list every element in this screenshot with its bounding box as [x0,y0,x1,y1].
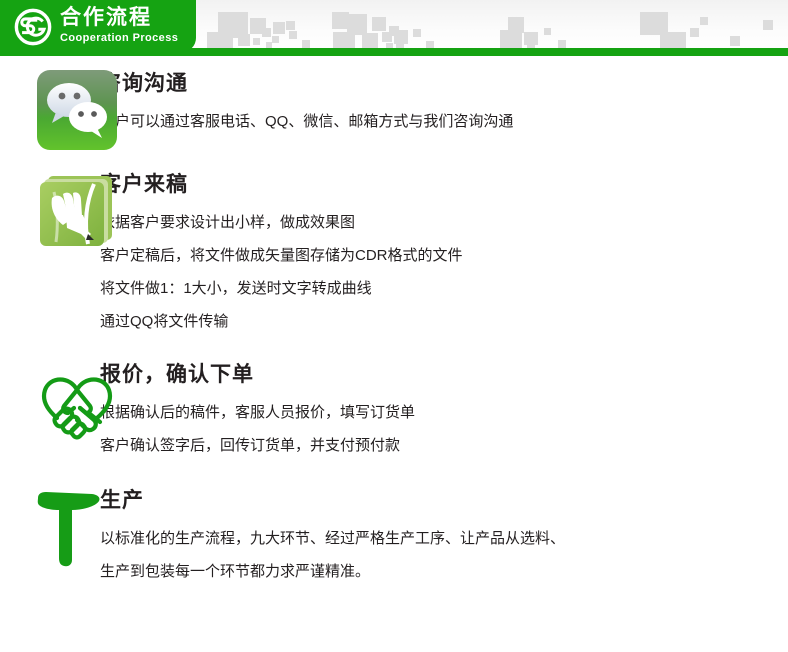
step-title: 咨询沟通 [100,69,788,99]
decor-square [362,33,378,48]
decor-square [500,30,522,50]
decor-square [238,34,250,46]
step-line: 客户定稿后，将文件做成矢量图存储为CDR格式的文件 [100,239,788,272]
step-line: 依据客户要求设计出小样，做成效果图 [100,206,788,239]
step-line: 客户确认签字后，回传订货单，并支付预付款 [100,429,788,462]
step-line: 将文件做1：1大小，发送时文字转成曲线 [100,272,788,305]
decor-square [544,28,551,35]
decor-square [700,17,708,25]
decor-square [730,36,740,46]
step-title: 客户来稿 [100,170,788,200]
decor-square [558,40,566,48]
step-title: 报价，确认下单 [100,360,788,390]
decor-square [394,30,408,44]
decor-square [382,32,392,42]
step-body: 报价，确认下单 根据确认后的稿件，客服人员报价，填写订货单 客户确认签字后，回传… [96,360,788,462]
step-item-production: 生产 以标准化的生产流程，九大环节、经过严格生产工序、让产品从选料、 生产到包装… [0,486,788,588]
decor-square [286,21,295,30]
step-body: 咨询沟通 客户可以通过客服电话、QQ、微信、邮箱方式与我们咨询沟通 [96,69,788,138]
stg-logo-icon [14,8,52,46]
step-title: 生产 [100,486,788,516]
hand-drawing-manuscript-icon [36,170,118,252]
decor-square [262,28,271,37]
handshake-icon [36,362,118,444]
header-title-tab: 合作流程 Cooperation Process [0,0,196,52]
decor-square [253,38,260,45]
step-item-quotation: 报价，确认下单 根据确认后的稿件，客服人员报价，填写订货单 客户确认签字后，回传… [0,360,788,462]
step-body: 生产 以标准化的生产流程，九大环节、经过严格生产工序、让产品从选料、 生产到包装… [96,486,788,588]
decor-square [763,20,773,30]
step-line: 根据确认后的稿件，客服人员报价，填写订货单 [100,396,788,429]
decor-square [690,28,699,37]
step-item-consultation: 咨询沟通 客户可以通过客服电话、QQ、微信、邮箱方式与我们咨询沟通 [0,69,788,156]
decor-square [289,31,297,39]
step-line: 以标准化的生产流程，九大环节、经过严格生产工序、让产品从选料、 [100,522,788,555]
wechat-icon [36,69,118,151]
step-icon-wrap [0,69,96,156]
decor-square [413,29,421,37]
step-item-manuscript: 客户来稿 依据客户要求设计出小样，做成效果图 客户定稿后，将文件做成矢量图存储为… [0,170,788,338]
page-title-en: Cooperation Process [60,31,192,45]
step-line: 客户可以通过客服电话、QQ、微信、邮箱方式与我们咨询沟通 [100,105,788,138]
step-icon-wrap [0,360,96,449]
step-icon-wrap [0,486,96,573]
step-line: 生产到包装每一个环节都力求严谨精准。 [100,555,788,588]
step-icon-wrap [0,170,96,257]
decor-square [372,17,386,31]
cooperation-steps-list: 咨询沟通 客户可以通过客服电话、QQ、微信、邮箱方式与我们咨询沟通 [0,69,788,588]
hammer-icon [28,486,110,568]
step-body: 客户来稿 依据客户要求设计出小样，做成效果图 客户定稿后，将文件做成矢量图存储为… [96,170,788,338]
header-tab-text: 合作流程 Cooperation Process [60,5,192,45]
step-line: 通过QQ将文件传输 [100,305,788,338]
decor-square [272,36,279,43]
decor-square [302,40,310,48]
page-header: 合作流程 Cooperation Process [0,0,788,57]
page-title-cn: 合作流程 [60,5,192,31]
decor-square [273,22,285,34]
